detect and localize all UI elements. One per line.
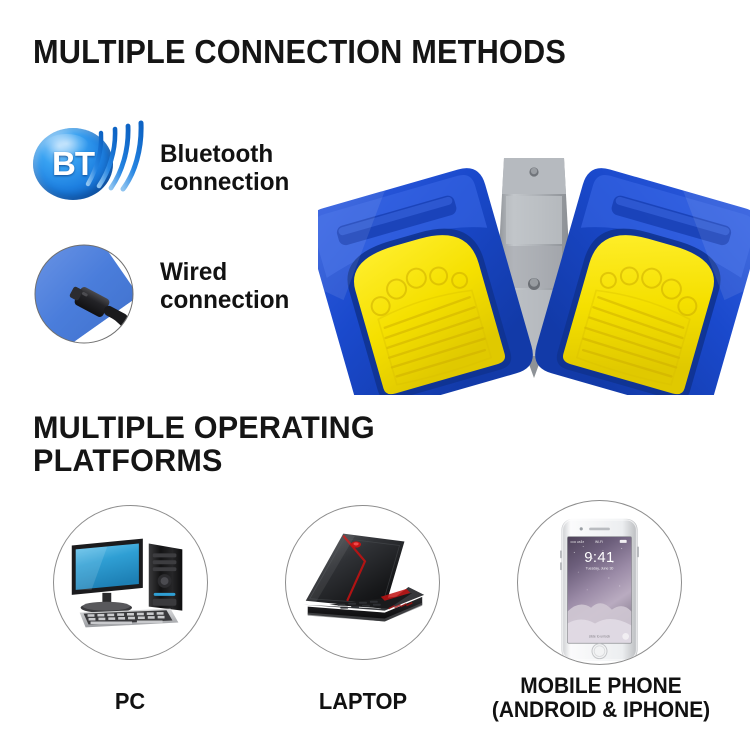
platform-circle-mobile: ••••• ᴀᴛ&ᴛ Wi-Fi 9:41 Tuesday, June 30 s… xyxy=(517,500,682,665)
phone-clock-time: 9:41 xyxy=(584,550,614,566)
operating-platforms-title: MULTIPLE OPERATING PLATFORMS xyxy=(33,411,375,478)
connection-methods-title: MULTIPLE CONNECTION METHODS xyxy=(33,35,566,70)
phone-clock-date: Tuesday, June 30 xyxy=(586,567,614,571)
bluetooth-bt-sphere-icon: BT xyxy=(30,122,120,204)
phone-front-camera xyxy=(580,527,583,530)
wired-connection-label: Wired connection xyxy=(160,258,289,314)
phone-volume-up-button xyxy=(560,550,562,558)
platform-circle-pc xyxy=(53,505,208,660)
pc-tower xyxy=(149,544,183,611)
dual-foot-pedal-product-image xyxy=(318,150,750,395)
gaming-laptop-icon xyxy=(286,506,439,659)
phone-volume-down-button xyxy=(560,562,562,570)
platform-label-laptop: LAPTOP xyxy=(282,689,444,714)
pc-monitor xyxy=(72,539,143,614)
desktop-computer-icon xyxy=(54,506,207,659)
phone-power-button xyxy=(637,546,639,557)
usb-cable-photo-icon xyxy=(34,244,134,344)
bt-sphere-label: BT xyxy=(33,128,113,200)
platform-label-mobile: MOBILE PHONE (ANDROID & IPHONE) xyxy=(462,674,739,722)
platform-label-pc: PC xyxy=(49,689,211,714)
phone-status-carrier: ••••• ᴀᴛ&ᴛ xyxy=(570,540,584,544)
smartphone-icon: ••••• ᴀᴛ&ᴛ Wi-Fi 9:41 Tuesday, June 30 s… xyxy=(518,501,681,664)
platform-circle-laptop xyxy=(285,505,440,660)
infographic-page: MULTIPLE CONNECTION METHODS BT Bluetooth… xyxy=(0,0,750,750)
svg-text:Wi-Fi: Wi-Fi xyxy=(595,540,603,544)
phone-earpiece xyxy=(589,528,610,531)
phone-slide-to-unlock: slide to unlock xyxy=(589,634,611,638)
phone-screen: ••••• ᴀᴛ&ᴛ Wi-Fi 9:41 Tuesday, June 30 s… xyxy=(567,537,631,644)
bluetooth-connection-label: Bluetooth connection xyxy=(160,140,289,196)
